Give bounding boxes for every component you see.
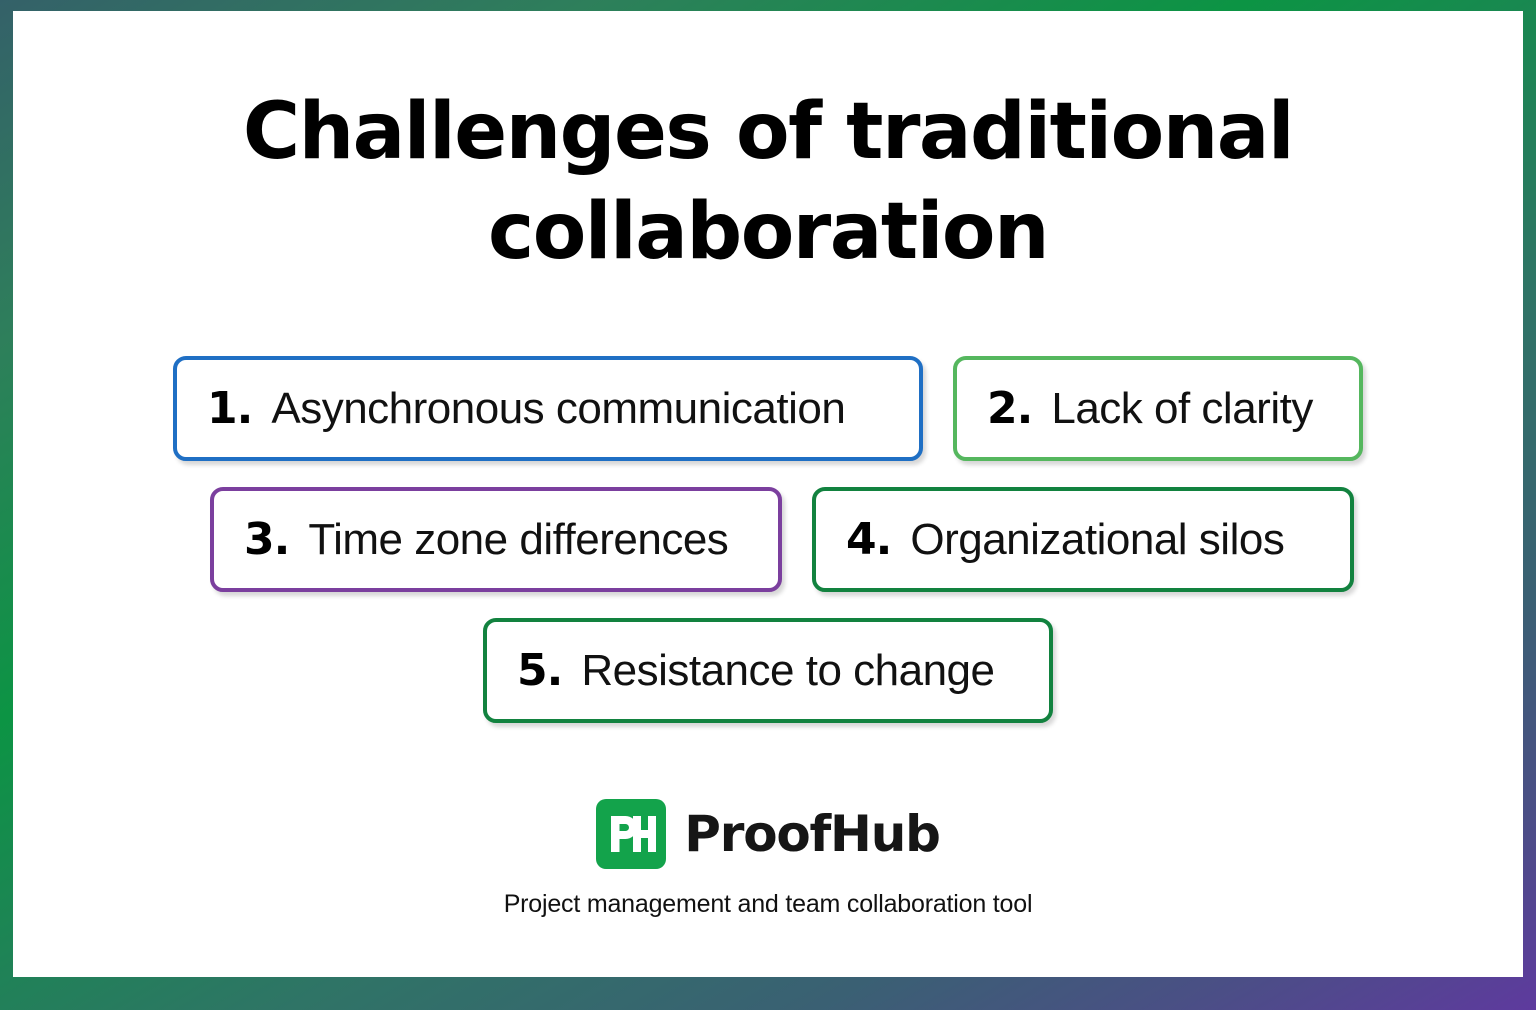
page-title: Challenges of traditional collaboration xyxy=(13,83,1523,283)
poster-canvas: Challenges of traditional collaboration … xyxy=(13,11,1523,977)
challenge-number: 4. xyxy=(846,514,891,565)
proofhub-mark-icon xyxy=(596,799,666,869)
brand-footer: ProofHub Project management and team col… xyxy=(13,799,1523,919)
challenge-card-2[interactable]: 2. Lack of clarity xyxy=(953,356,1363,461)
challenge-label: Lack of clarity xyxy=(1051,384,1312,434)
challenge-number: 5. xyxy=(517,645,562,696)
poster-frame: Challenges of traditional collaboration … xyxy=(0,0,1536,1010)
challenge-row-2: 3. Time zone differences 4. Organization… xyxy=(13,487,1523,592)
challenge-label: Organizational silos xyxy=(910,515,1284,565)
challenge-number: 3. xyxy=(244,514,289,565)
challenge-number: 1. xyxy=(207,383,252,434)
proofhub-wordmark: ProofHub xyxy=(684,805,939,863)
brand-tagline: Project management and team collaboratio… xyxy=(504,890,1033,919)
challenge-row-1: 1. Asynchronous communication 2. Lack of… xyxy=(13,356,1523,461)
challenge-label: Resistance to change xyxy=(581,646,994,696)
challenges-list: 1. Asynchronous communication 2. Lack of… xyxy=(13,356,1523,749)
challenge-card-1[interactable]: 1. Asynchronous communication xyxy=(173,356,923,461)
challenge-card-4[interactable]: 4. Organizational silos xyxy=(812,487,1354,592)
challenge-card-3[interactable]: 3. Time zone differences xyxy=(210,487,782,592)
challenge-label: Time zone differences xyxy=(308,515,728,565)
challenge-card-5[interactable]: 5. Resistance to change xyxy=(483,618,1053,723)
challenge-number: 2. xyxy=(987,383,1032,434)
proofhub-logo: ProofHub xyxy=(596,799,939,869)
challenge-row-3: 5. Resistance to change xyxy=(13,618,1523,723)
challenge-label: Asynchronous communication xyxy=(271,384,845,434)
